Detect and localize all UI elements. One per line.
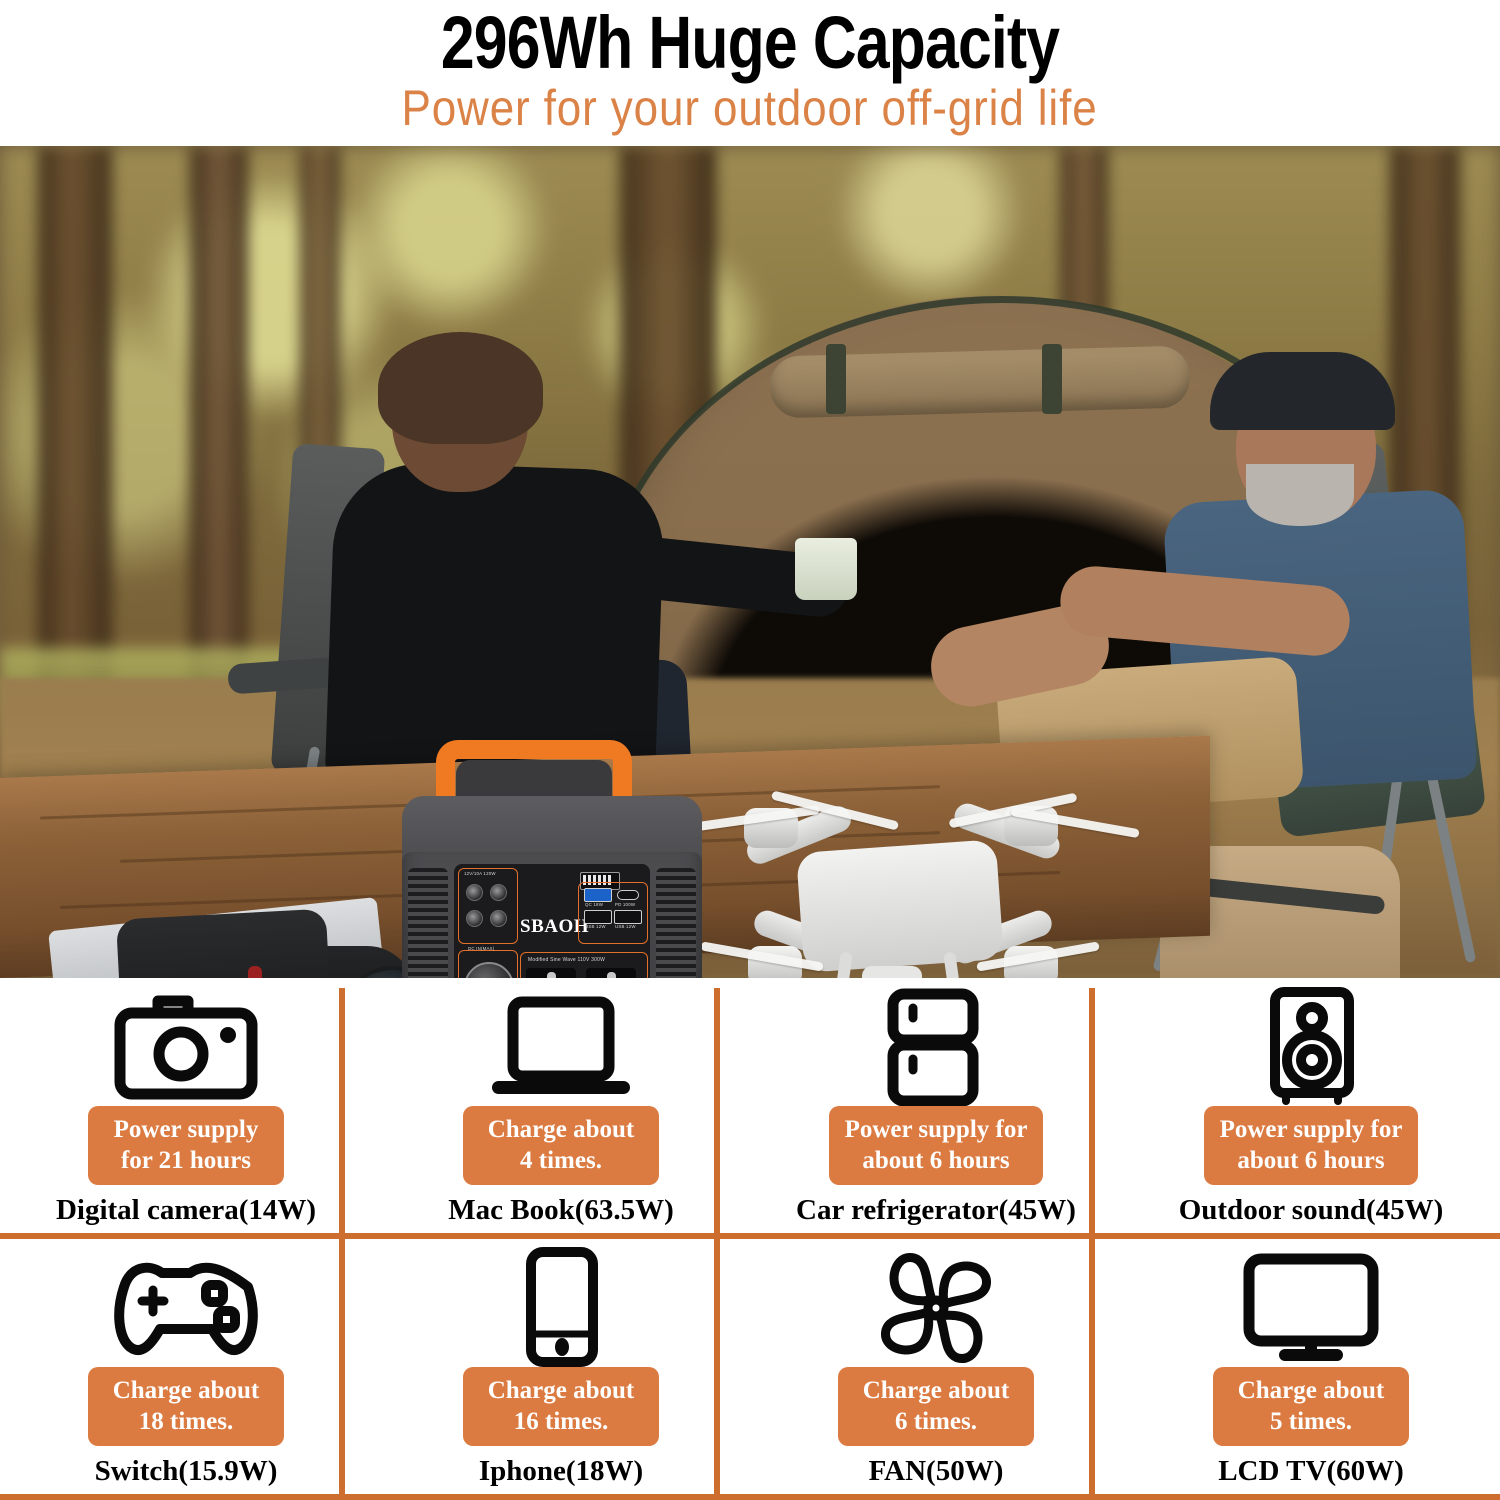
appliance-cell-speaker[interactable]: Power supply for about 6 hours Outdoor s… bbox=[1125, 978, 1497, 1236]
appliance-cell-fan[interactable]: Charge about 6 times. FAN(50W) bbox=[750, 1239, 1122, 1497]
header: 296Wh Huge Capacity Power for your outdo… bbox=[0, 0, 1500, 146]
appliance-cell-tv[interactable]: Charge about 5 times. LCD TV(60W) bbox=[1125, 1239, 1497, 1497]
pd-port-label: PD 100W bbox=[615, 902, 635, 907]
appliance-caption: Outdoor sound(45W) bbox=[1179, 1193, 1444, 1227]
usb-c-pd-port bbox=[617, 890, 639, 900]
appliance-cell-refrigerator[interactable]: Power supply for about 6 hours Car refri… bbox=[750, 978, 1122, 1236]
usb-port-label: USB 12W bbox=[585, 924, 606, 929]
station-front-panel: 12V/10A 120W SBAOH QC 18W PD 100W USB 1 bbox=[454, 864, 650, 978]
camera-icon bbox=[111, 988, 261, 1106]
page-subtitle: Power for your outdoor off-grid life bbox=[402, 80, 1098, 136]
dc-port bbox=[490, 910, 507, 927]
drone-body bbox=[796, 839, 1004, 973]
hero-photo: 12V/10A 120W SBAOH QC 18W PD 100W USB 1 bbox=[0, 146, 1500, 978]
smartphone-icon bbox=[513, 1249, 609, 1367]
tent-strap bbox=[826, 344, 846, 414]
badge-line-1: Power supply bbox=[114, 1116, 259, 1143]
person-left-hair bbox=[378, 332, 543, 444]
laptop-icon bbox=[486, 988, 636, 1106]
dc-port bbox=[490, 884, 507, 901]
appliance-caption: Iphone(18W) bbox=[479, 1454, 643, 1488]
fan-icon bbox=[874, 1249, 998, 1367]
tent-strap bbox=[1042, 344, 1062, 414]
dc-port bbox=[466, 910, 483, 927]
badge-line-1: Charge about bbox=[863, 1377, 1010, 1404]
badge-line-1: Charge about bbox=[488, 1377, 635, 1404]
dslr-camera-body bbox=[116, 909, 334, 978]
status-badge: Charge about 6 times. bbox=[838, 1367, 1034, 1446]
badge-line-2: 4 times. bbox=[520, 1147, 602, 1174]
appliance-caption: Digital camera(14W) bbox=[56, 1193, 316, 1227]
badge-line-2: 5 times. bbox=[1270, 1408, 1352, 1435]
badge-line-1: Charge about bbox=[488, 1116, 635, 1143]
status-badge: Charge about 18 times. bbox=[88, 1367, 284, 1446]
appliance-cell-iphone[interactable]: Charge about 16 times. Iphone(18W) bbox=[375, 1239, 747, 1497]
ac-outlet bbox=[526, 968, 576, 978]
dc-in-label: DC IN(MAX) bbox=[468, 946, 494, 951]
page-title: 296Wh Huge Capacity bbox=[441, 2, 1059, 84]
baseball-cap bbox=[1210, 352, 1395, 430]
appliance-caption: Mac Book(63.5W) bbox=[448, 1193, 674, 1227]
station-vent-left bbox=[408, 868, 448, 978]
speaker-icon bbox=[1255, 988, 1367, 1106]
appliance-cell-camera[interactable]: Power supply for 21 hours Digital camera… bbox=[0, 978, 372, 1236]
badge-line-1: Charge about bbox=[113, 1377, 260, 1404]
badge-line-1: Power supply for bbox=[845, 1116, 1028, 1143]
appliance-cell-laptop[interactable]: Charge about 4 times. Mac Book(63.5W) bbox=[375, 978, 747, 1236]
portable-power-station: 12V/10A 120W SBAOH QC 18W PD 100W USB 1 bbox=[398, 740, 714, 978]
appliance-caption: LCD TV(60W) bbox=[1218, 1454, 1404, 1488]
badge-line-2: about 6 hours bbox=[862, 1147, 1009, 1174]
tv-icon bbox=[1239, 1249, 1383, 1367]
infographic-page: 296Wh Huge Capacity Power for your outdo… bbox=[0, 0, 1500, 1500]
ac-outlet bbox=[586, 968, 636, 978]
qc-port-label: QC 18W bbox=[585, 902, 603, 907]
qc-usb-port bbox=[584, 888, 612, 902]
appliance-cell-switch[interactable]: Charge about 18 times. Switch(15.9W) bbox=[0, 1239, 372, 1497]
drone-gimbal bbox=[862, 966, 922, 978]
status-badge: Charge about 16 times. bbox=[463, 1367, 659, 1446]
badge-line-2: about 6 hours bbox=[1237, 1147, 1384, 1174]
status-badge: Charge about 4 times. bbox=[463, 1106, 659, 1185]
gamepad-icon bbox=[108, 1249, 264, 1367]
badge-line-2: for 21 hours bbox=[121, 1147, 251, 1174]
status-badge: Power supply for 21 hours bbox=[88, 1106, 284, 1185]
person-right-beard bbox=[1246, 464, 1354, 526]
badge-line-2: 6 times. bbox=[895, 1408, 977, 1435]
badge-line-2: 18 times. bbox=[139, 1408, 233, 1435]
usb-a-port bbox=[614, 910, 642, 924]
usb-port-label: USB 12W bbox=[615, 924, 636, 929]
appliance-caption: Car refrigerator(45W) bbox=[796, 1193, 1076, 1227]
appliance-caption: Switch(15.9W) bbox=[95, 1454, 278, 1488]
usb-a-port bbox=[584, 910, 612, 924]
badge-line-1: Charge about bbox=[1238, 1377, 1385, 1404]
lens-red-ring bbox=[248, 966, 262, 978]
dc-port bbox=[466, 884, 483, 901]
compatibility-grid: Power supply for 21 hours Digital camera… bbox=[0, 978, 1500, 1500]
appliance-caption: FAN(50W) bbox=[869, 1454, 1004, 1488]
station-vent-right bbox=[656, 868, 696, 978]
status-badge: Charge about 5 times. bbox=[1213, 1367, 1409, 1446]
ac-output-label: Modified Sine Wave 110V 300W bbox=[528, 957, 605, 963]
status-badge: Power supply for about 6 hours bbox=[829, 1106, 1044, 1185]
dc-output-panel bbox=[458, 868, 518, 944]
badge-line-1: Power supply for bbox=[1220, 1116, 1403, 1143]
refrigerator-icon bbox=[881, 988, 991, 1106]
badge-line-2: 16 times. bbox=[514, 1408, 608, 1435]
status-badge: Power supply for about 6 hours bbox=[1204, 1106, 1419, 1185]
dc-port-label: 12V/10A 120W bbox=[464, 871, 496, 876]
coffee-mug bbox=[795, 538, 857, 600]
